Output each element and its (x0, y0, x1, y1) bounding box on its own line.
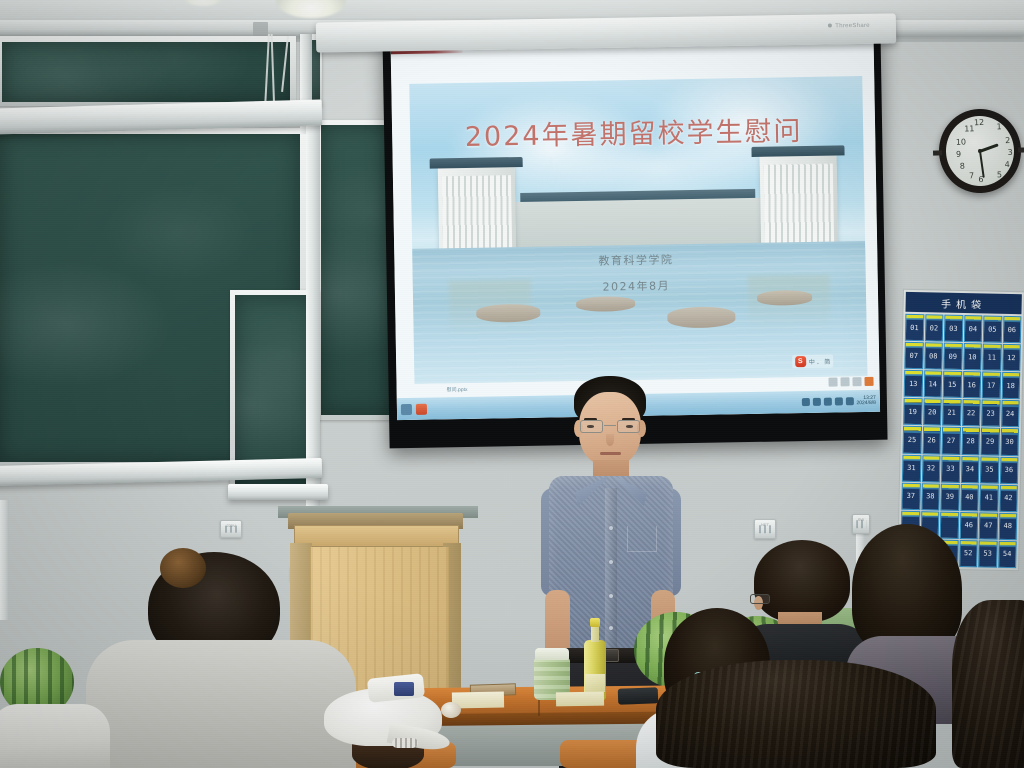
wall-socket[interactable]: 220V (220, 520, 242, 538)
presenter-mouth (600, 452, 621, 455)
clock-numeral: 7 (966, 171, 976, 180)
phone-pocket-21[interactable]: 21 (942, 399, 961, 426)
bottle-cap (590, 618, 600, 627)
blackboard-surface (2, 42, 290, 102)
phone-pocket-17[interactable]: 17 (982, 372, 1001, 399)
phone-pocket-36[interactable]: 36 (999, 456, 1018, 483)
phone-pocket-16[interactable]: 16 (962, 371, 981, 398)
presenter-shirt-pocket (627, 526, 657, 552)
phone-pocket-18[interactable]: 18 (1001, 372, 1020, 399)
blue-item (394, 682, 414, 696)
toolbar-row[interactable] (828, 377, 873, 387)
bottle-label (585, 674, 605, 692)
napkin (556, 692, 604, 707)
clock-date: 2024/8/8 (856, 400, 876, 406)
pouch-header-label: 手机袋 (905, 292, 1021, 314)
phone-pocket-07[interactable]: 07 (904, 342, 923, 369)
tray-network-icon[interactable] (801, 398, 809, 406)
clock-numeral: 9 (953, 149, 963, 158)
phone-pocket-09[interactable]: 09 (943, 343, 962, 370)
phone-pocket-15[interactable]: 15 (943, 371, 962, 398)
phone-pocket-10[interactable]: 10 (963, 343, 982, 370)
clock-numeral: 10 (956, 137, 966, 146)
eyeglasses-icon (750, 594, 770, 604)
student-right-edge (952, 600, 1024, 768)
podium-front-band (294, 525, 459, 547)
taskbar-clock[interactable]: 13:27 2024/8/8 (856, 395, 876, 406)
clock-mount-lug (1018, 148, 1024, 153)
pen-tool-icon[interactable] (828, 377, 837, 386)
phone-pocket-02[interactable]: 02 (924, 314, 943, 341)
phone-pocket-54[interactable]: 54 (998, 541, 1017, 568)
tower-columns (764, 164, 835, 252)
shirt-button (609, 526, 613, 530)
phone-pocket-05[interactable]: 05 (983, 315, 1002, 342)
screen-brand-label: ThreeShare (828, 23, 870, 30)
ime-status-bar[interactable]: S 中 ． 简 (792, 355, 834, 369)
pointer-tool-icon[interactable] (852, 377, 861, 386)
phone-pocket-33[interactable]: 33 (941, 455, 960, 482)
brand-text: ThreeShare (835, 23, 870, 30)
phone-pocket-38[interactable]: 38 (921, 483, 940, 510)
phone-pocket-24[interactable]: 24 (1001, 400, 1020, 427)
clock-numeral: 8 (957, 161, 967, 170)
phone-pocket-29[interactable]: 29 (980, 428, 999, 455)
phone-pocket-11[interactable]: 11 (982, 344, 1001, 371)
tray-security-icon[interactable] (823, 398, 831, 406)
campus-gate-tower-left (438, 166, 517, 257)
phone-pocket-01[interactable]: 01 (905, 314, 924, 341)
phone-pocket-22[interactable]: 22 (962, 399, 981, 426)
clock-numeral: 2 (1003, 136, 1013, 145)
phone-pocket-27[interactable]: 27 (941, 427, 960, 454)
phone-pocket-12[interactable]: 12 (1002, 344, 1021, 371)
tray-volume-icon[interactable] (812, 398, 820, 406)
phone-pocket-26[interactable]: 26 (922, 427, 941, 454)
powerpoint-toolbar[interactable] (828, 377, 873, 387)
phone-pocket-19[interactable]: 19 (903, 398, 922, 425)
yellow-bottle (584, 618, 606, 700)
phone-pocket-25[interactable]: 25 (902, 426, 921, 453)
phone-pocket-06[interactable]: 06 (1002, 316, 1021, 343)
presentation-slide: 正阳师范学院 2024年暑期留校学生慰问 教育科学学院 2024年8月 S 中 … (391, 36, 880, 420)
shirt-button (609, 594, 613, 598)
taskbar-open-windows[interactable]: 慰问.pptx (397, 403, 427, 415)
powerpoint-taskbar-icon[interactable] (416, 403, 427, 414)
clock-numeral: 11 (964, 124, 974, 133)
phone-pocket-20[interactable]: 20 (923, 399, 942, 426)
phone-pocket-37[interactable]: 37 (901, 482, 920, 509)
phone-pocket-30[interactable]: 30 (1000, 428, 1019, 455)
tray-ime-icon[interactable] (834, 397, 842, 405)
presenter-nose (606, 434, 614, 446)
phone-pocket-48[interactable]: 48 (998, 513, 1017, 540)
phone-pocket-32[interactable]: 32 (921, 455, 940, 482)
phone-pocket-28[interactable]: 28 (961, 427, 980, 454)
clock-center-pin (978, 149, 982, 153)
phone-pocket-42[interactable]: 42 (999, 484, 1018, 511)
clock-hour-hand (980, 143, 999, 152)
tray-updates-icon[interactable] (845, 397, 853, 405)
sogou-ime-icon[interactable]: S (795, 356, 806, 367)
clock-mount-lug (933, 151, 942, 156)
blackboard-surface (235, 295, 315, 485)
eyeglasses-icon (579, 420, 641, 434)
student-white-cap (318, 678, 450, 768)
wall-conduit (0, 500, 9, 620)
taskbar-system-tray[interactable]: 13:27 2024/8/8 (801, 395, 880, 407)
socket-holes-icon (759, 526, 771, 534)
socket-holes-icon (225, 526, 237, 533)
hair-clip (392, 738, 418, 748)
phone-pocket-13[interactable]: 13 (904, 370, 923, 397)
shirt-button (609, 626, 613, 630)
clock-face: 12 1 2 3 4 5 6 7 8 9 10 11 (945, 115, 1015, 187)
lens-right (617, 420, 640, 433)
pontoon (667, 306, 735, 328)
phone-pocket-14[interactable]: 14 (923, 370, 942, 397)
phone-pocket-23[interactable]: 23 (981, 400, 1000, 427)
shirt-button (609, 560, 613, 564)
phone-pocket-34[interactable]: 34 (960, 456, 979, 483)
phone-pocket-40[interactable]: 40 (960, 484, 979, 511)
phone-pocket-35[interactable]: 35 (980, 456, 999, 483)
projection-screen-display: 正阳师范学院 2024年暑期留校学生慰问 教育科学学院 2024年8月 S 中 … (391, 36, 880, 420)
bottle-neck (591, 626, 599, 642)
chalk-rail-segment (228, 484, 328, 500)
student-hair (952, 600, 1024, 768)
student-left-edge (0, 704, 110, 768)
clock-numeral: 3 (1005, 148, 1015, 157)
student-hair (656, 660, 936, 768)
tumbler-lid (535, 648, 569, 660)
campus-gate-tower-right (759, 154, 838, 251)
phone-pocket-39[interactable]: 39 (940, 483, 959, 510)
glasses-bridge (604, 425, 616, 426)
start-button-icon[interactable] (401, 403, 412, 414)
tower-roof (430, 157, 523, 169)
eraser-tool-icon[interactable] (840, 377, 849, 386)
brand-dot-icon (828, 24, 832, 28)
tower-columns (442, 175, 512, 257)
slideshow-play-icon[interactable] (864, 377, 873, 386)
phone-pocket-41[interactable]: 41 (979, 484, 998, 511)
ime-mode-label[interactable]: 中 ． 简 (809, 357, 830, 366)
open-window-label: 慰问.pptx (447, 386, 468, 393)
clock-numeral: 1 (994, 122, 1004, 131)
wall-socket[interactable]: NET (754, 519, 776, 539)
clock-numeral: 5 (994, 170, 1004, 179)
hair-bun (160, 548, 206, 588)
phone-pocket-03[interactable]: 03 (944, 315, 963, 342)
student-hair (852, 524, 962, 654)
lens-left (580, 420, 603, 433)
student-torso (0, 704, 110, 768)
phone-pocket-31[interactable]: 31 (902, 454, 921, 481)
student-grey-top-bun (86, 552, 356, 768)
classroom-photo: ThreeShare (0, 0, 1024, 768)
phone-pocket-08[interactable]: 08 (924, 342, 943, 369)
clock-numeral: 4 (1002, 160, 1012, 169)
student-long-hair-front (656, 660, 936, 768)
phone-pocket-04[interactable]: 04 (963, 315, 982, 342)
blackboard-panel-upper-left (0, 36, 296, 106)
clock-numeral: 12 (974, 118, 984, 127)
student-torso (86, 640, 356, 768)
